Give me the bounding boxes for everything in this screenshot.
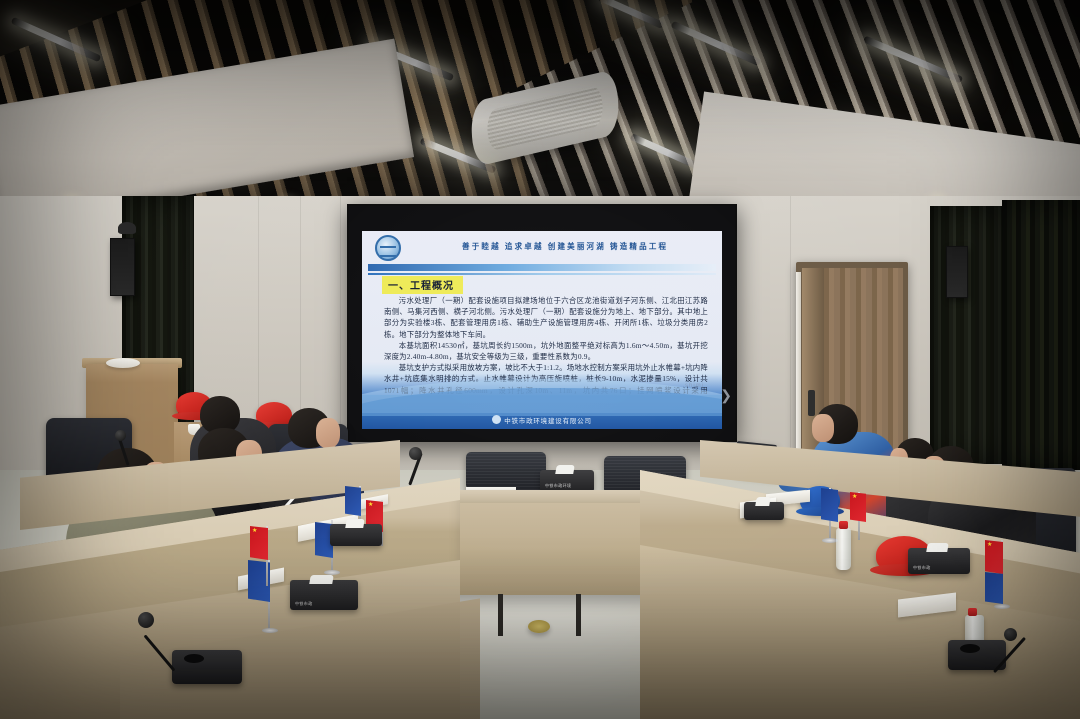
tissue-box: 中铁市政 (290, 580, 358, 610)
door-handle-icon[interactable] (808, 390, 815, 416)
slide-slogan: 善于睦越 追求卓越 创建美丽河湖 铸造精品工程 (462, 241, 714, 253)
tissue-box: 中铁市政 (908, 548, 970, 574)
tissue-box (744, 502, 784, 520)
chevron-right-icon: ❯ (720, 388, 732, 402)
slide-paragraph: 本基坑面积14530㎡，基坑周长约1500m，坑外地面整平绝对标高为1.6m～4… (384, 340, 708, 362)
wall-speaker-left (110, 238, 135, 296)
presentation-slide: 善于睦越 追求卓越 创建美丽河湖 铸造精品工程 一、工程概况 污水处理厂（一期）… (362, 231, 722, 429)
blue-desk-flag (821, 488, 838, 522)
wood-slat-ceiling (0, 0, 1080, 218)
meeting-room-photo: 善于睦越 追求卓越 创建美丽河湖 铸造精品工程 一、工程概况 污水处理厂（一期）… (0, 0, 1080, 719)
slide-title: 一、工程概况 (382, 276, 463, 294)
office-chair[interactable] (466, 452, 546, 490)
red-desk-flag: ★ (250, 526, 268, 560)
document-papers (106, 358, 140, 368)
slide-header-rule2 (368, 273, 716, 275)
blue-desk-flag (345, 486, 361, 516)
slide-paragraph: 污水处理厂（一期）配套设施项目拟建场地位于六合区龙池街道划子河东侧、江北田江苏路… (384, 295, 708, 340)
blue-desk-flag (985, 572, 1003, 604)
flag-base (994, 604, 1010, 609)
footer-logo-icon (492, 415, 501, 424)
wall-display[interactable]: 善于睦越 追求卓越 创建美丽河湖 铸造精品工程 一、工程概况 污水处理厂（一期）… (347, 204, 737, 442)
slide-header-rule (368, 264, 716, 271)
wall-speaker-right (946, 246, 968, 298)
tissue-box (330, 524, 382, 546)
tissue-box: 中铁市政环境 (540, 470, 594, 492)
water-bottle (836, 528, 851, 570)
red-desk-flag: ★ (850, 492, 866, 522)
slide-footer-company: 中铁市政环境建设有限公司 (504, 418, 592, 425)
blackout-curtain-right (930, 206, 1002, 464)
flag-base (262, 628, 278, 633)
camera-mount (118, 222, 136, 234)
company-logo-icon (375, 235, 401, 261)
blackout-curtain-far-right (1002, 200, 1080, 470)
slide-footer: 中铁市政环境建设有限公司 (362, 415, 722, 425)
red-desk-flag: ★ (985, 540, 1003, 574)
door-gap (796, 272, 801, 462)
